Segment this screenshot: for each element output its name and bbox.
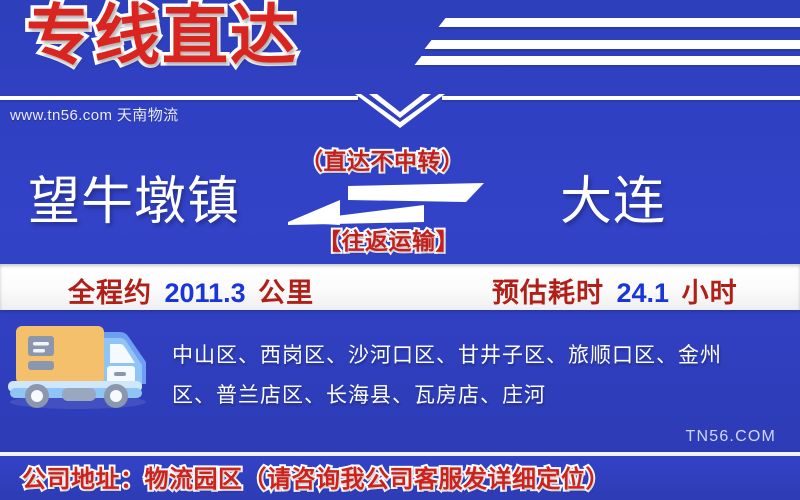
- watermark-label: TN56.COM: [686, 428, 777, 446]
- round-trip-badge: 【往返运输】: [318, 222, 459, 256]
- duration-prefix-label: 预估耗时: [492, 278, 604, 308]
- coverage-line-2: 区、普兰店区、长海县、瓦房店、庄河: [172, 376, 788, 416]
- distance-unit-label: 公里: [258, 278, 314, 308]
- delivery-truck-icon: [6, 318, 156, 410]
- speed-stripe-icon-2: [424, 40, 800, 49]
- distance-prefix-label: 全程约: [68, 278, 152, 308]
- page-title: 专线直达: [26, 2, 298, 68]
- chevron-down-icon: [355, 92, 445, 128]
- origin-city-label: 望牛墩镇: [28, 176, 240, 228]
- direct-service-badge: （直达不中转）: [300, 142, 465, 176]
- destination-city-label: 大连: [560, 176, 666, 228]
- speed-stripe-icon-3: [414, 56, 800, 65]
- speed-stripe-icon-1: [438, 18, 800, 27]
- duration-unit-label: 小时: [682, 278, 738, 308]
- logistics-route-poster: 专线直达 www.tn56.com 天南物流 望牛墩镇 大连 （直达不中转） 【…: [0, 0, 800, 500]
- duration-value: 24.1: [613, 278, 674, 308]
- total-distance-stat: 全程约 2011.3 公里: [68, 271, 314, 310]
- bidirectional-arrows-icon: [288, 182, 484, 226]
- header-divider-right: [442, 96, 800, 100]
- header-divider-left: [0, 96, 358, 100]
- distance-value: 2011.3: [161, 278, 250, 308]
- estimated-duration-stat: 预估耗时 24.1 小时: [492, 271, 738, 310]
- coverage-line-1: 中山区、西岗区、沙河口区、甘井子区、旅顺口区、金州: [172, 336, 788, 376]
- site-url-label: www.tn56.com 天南物流: [10, 104, 179, 125]
- company-address-label: 公司地址：物流园区（请咨询我公司客服发详细定位）: [22, 459, 610, 494]
- coverage-area-list: 中山区、西岗区、沙河口区、甘井子区、旅顺口区、金州 区、普兰店区、长海县、瓦房店…: [172, 336, 788, 416]
